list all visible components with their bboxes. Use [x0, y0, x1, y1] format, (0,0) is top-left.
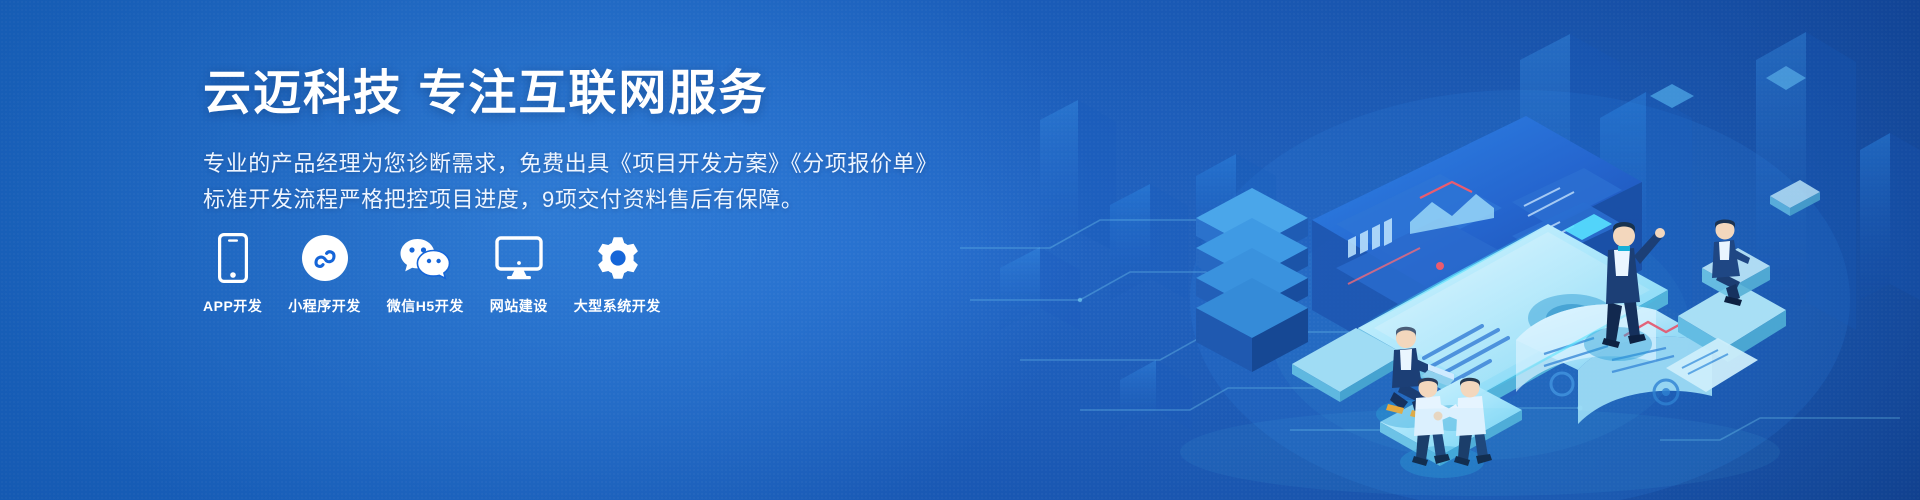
service-item-app[interactable]: APP开发 [203, 232, 262, 316]
service-item-large-system[interactable]: 大型系统开发 [574, 232, 661, 316]
service-label: 网站建设 [490, 296, 548, 316]
service-label: 小程序开发 [288, 296, 361, 316]
mini-program-icon [302, 232, 348, 284]
service-item-mini-program[interactable]: 小程序开发 [288, 232, 361, 316]
service-item-website[interactable]: 网站建设 [490, 232, 548, 316]
mobile-phone-icon [218, 232, 248, 284]
hero-text-block: 云迈科技 专注互联网服务 专业的产品经理为您诊断需求，免费出具《项目开发方案》《… [203, 64, 1103, 217]
service-label: 大型系统开发 [574, 296, 661, 316]
wechat-icon [399, 232, 451, 284]
hero-banner: 云迈科技 专注互联网服务 专业的产品经理为您诊断需求，免费出具《项目开发方案》《… [0, 0, 1920, 500]
service-item-wechat-h5[interactable]: 微信H5开发 [387, 232, 464, 316]
isometric-tech-illustration [960, 0, 1920, 500]
hero-subtitle: 专业的产品经理为您诊断需求，免费出具《项目开发方案》《分项报价单》 标准开发流程… [203, 146, 1103, 217]
service-label: APP开发 [203, 296, 262, 316]
service-list: APP开发 小程序开发 [203, 232, 661, 316]
page-title: 云迈科技 专注互联网服务 [203, 64, 1103, 124]
subtitle-line-1: 专业的产品经理为您诊断需求，免费出具《项目开发方案》《分项报价单》 [203, 146, 1103, 182]
subtitle-line-2: 标准开发流程严格把控项目进度，9项交付资料售后有保障。 [203, 182, 1103, 218]
service-label: 微信H5开发 [387, 296, 464, 316]
gear-icon [594, 232, 640, 284]
monitor-icon [495, 232, 543, 284]
